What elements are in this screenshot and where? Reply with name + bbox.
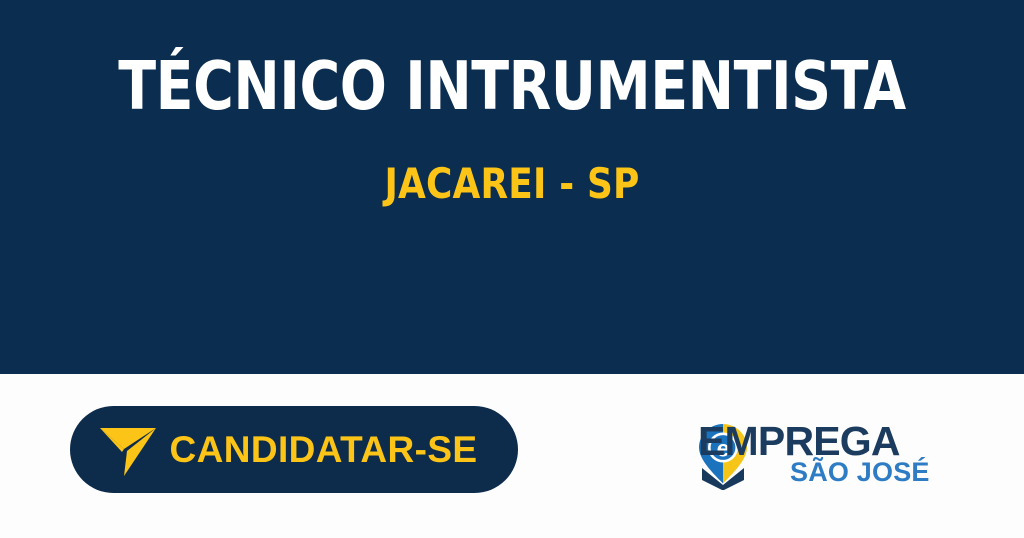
apply-button[interactable]: CANDIDATAR-SE <box>70 406 518 493</box>
brand-name: EMPREGA <box>698 421 900 462</box>
page-title: TÉCNICO INTRUMENTISTA <box>41 52 983 120</box>
brand-city: SÃO JOSÉ <box>790 459 930 486</box>
job-location: JACAREI - SP <box>26 162 999 206</box>
hero-banner: TÉCNICO INTRUMENTISTA JACAREI - SP <box>0 0 1024 374</box>
job-posting-card: TÉCNICO INTRUMENTISTA JACAREI - SP CANDI… <box>0 0 1024 538</box>
paper-plane-send-icon <box>97 419 159 481</box>
apply-button-label: CANDIDATAR-SE <box>159 431 518 468</box>
